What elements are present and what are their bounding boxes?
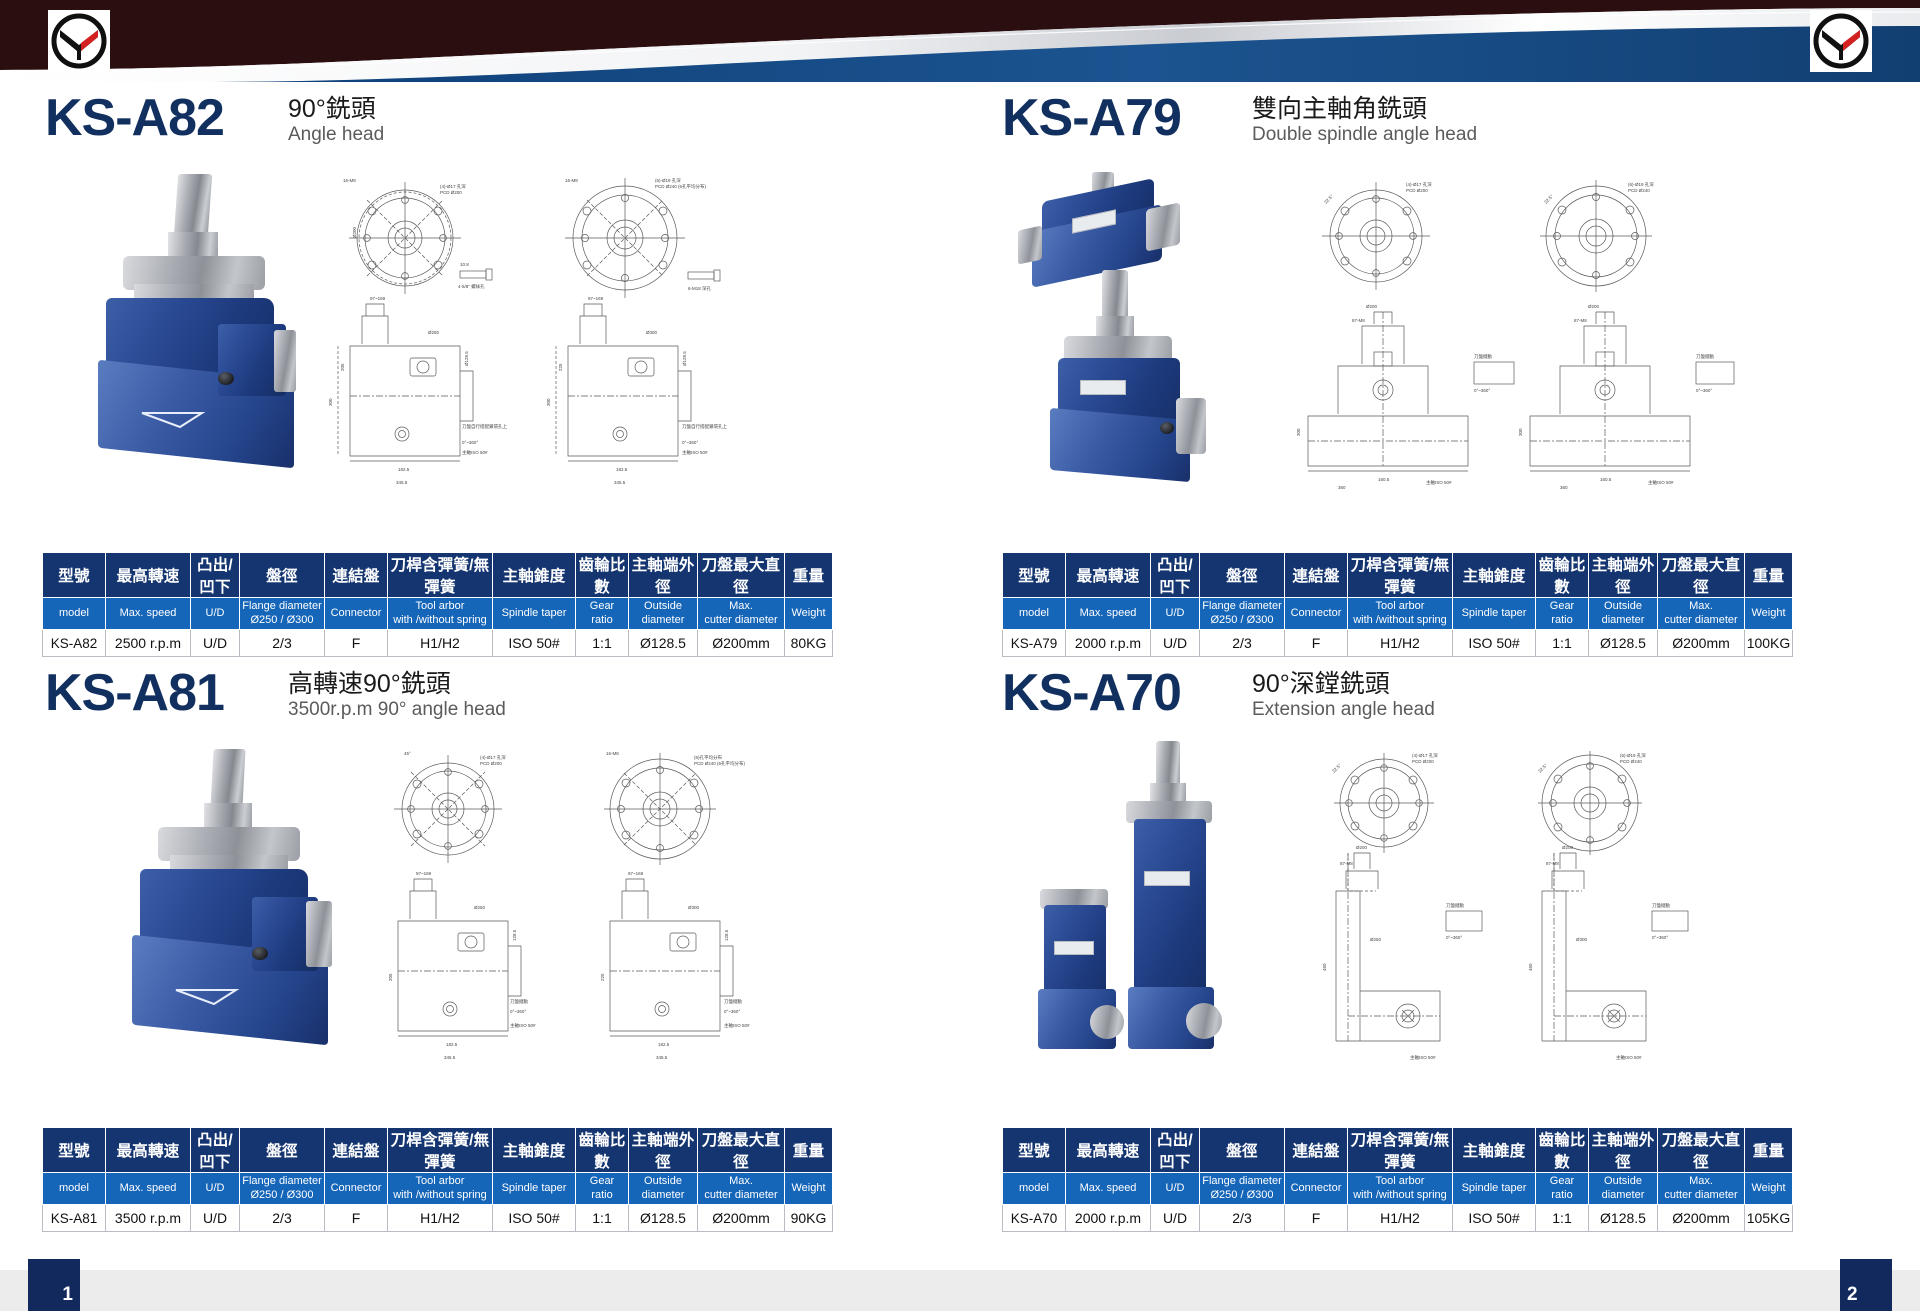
col-header-cn-outside: 主軸端外徑: [1589, 1128, 1658, 1173]
col-header-cn-gear: 齒輪比數: [1536, 1128, 1589, 1173]
col-header-en-cutter: Max.cutter diameter: [698, 1173, 785, 1205]
col-header-en-taper: Spindle taper: [493, 598, 576, 630]
spec-gear: 1:1: [576, 630, 629, 657]
spec-value-row: KS-A82 2500 r.p.m U/D 2/3 F H1/H2 ISO 50…: [43, 630, 833, 657]
spec-header-en-row: model Max. speed U/D Flange diameterØ250…: [1003, 598, 1793, 630]
svg-text:Ø200: Ø200: [1588, 304, 1600, 309]
product-panel-ks-a79: KS-A79 雙向主軸角銑頭 Double spindle angle head: [1000, 92, 1920, 652]
col-header-cn-outside: 主軸端外徑: [1589, 553, 1658, 598]
svg-text:Ø200: Ø200: [1366, 304, 1378, 309]
col-header-en-taper: Spindle taper: [493, 1173, 576, 1205]
company-logo-secondary: [1810, 10, 1872, 72]
svg-text:97~169: 97~169: [370, 296, 386, 301]
col-header-cn-toolarbor: 刀桿含彈簧/無彈簧: [1348, 1128, 1453, 1173]
svg-text:0°~360°: 0°~360°: [1652, 935, 1668, 940]
spec-model: KS-A82: [43, 630, 106, 657]
spec-connector: F: [325, 630, 388, 657]
spec-table: 型號 最高轉速 凸出/凹下 盤徑 連結盤 刀桿含彈簧/無彈簧 主軸錐度 齒輪比數…: [1002, 1127, 1793, 1232]
svg-text:460: 460: [1528, 963, 1533, 971]
product-panel-ks-a81: KS-A81 高轉速90°銑頭 3500r.p.m 90° angle head: [40, 667, 980, 1227]
col-header-cn-connector: 連結盤: [1285, 1128, 1348, 1173]
svg-text:97~169: 97~169: [416, 871, 432, 876]
col-header-en-model: model: [1003, 1173, 1066, 1205]
page-number-right-value: 2: [1847, 1284, 1858, 1306]
spec-model: KS-A70: [1003, 1205, 1066, 1232]
col-header-cn-gear: 齒輪比數: [576, 553, 629, 598]
svg-text:205: 205: [388, 973, 393, 981]
cad-drawing: (4)-Ø17 孔深 PCD Ø200 45° (6)孔平均分布 PCD Ø24…: [360, 741, 800, 1071]
product-code: KS-A70: [1002, 667, 1181, 719]
svg-text:97~169: 97~169: [628, 871, 644, 876]
spec-taper: ISO 50#: [493, 1205, 576, 1232]
col-header-en-maxspeed: Max. speed: [106, 598, 191, 630]
svg-text:345.5: 345.5: [396, 480, 408, 485]
svg-text:Ø300: Ø300: [688, 905, 700, 910]
col-header-en-weight: Weight: [785, 1173, 833, 1205]
col-header-cn-maxspeed: 最高轉速: [1066, 553, 1151, 598]
col-header-en-connector: Connector: [1285, 1173, 1348, 1205]
product-title-row: KS-A81 高轉速90°銑頭 3500r.p.m 90° angle head: [40, 667, 980, 737]
col-header-en-weight: Weight: [785, 598, 833, 630]
col-header-en-maxspeed: Max. speed: [1066, 1173, 1151, 1205]
spec-table: 型號 最高轉速 凸出/凹下 盤徑 連結盤 刀桿含彈簧/無彈簧 主軸錐度 齒輪比數…: [1002, 552, 1793, 657]
product-photo: [1010, 741, 1260, 1086]
svg-text:刀盤擺動: 刀盤擺動: [1652, 902, 1670, 909]
svg-text:PCD Ø240 (6孔平均分布): PCD Ø240 (6孔平均分布): [694, 760, 746, 767]
svg-text:345.5: 345.5: [444, 1055, 456, 1060]
svg-text:182.5: 182.5: [398, 467, 410, 472]
svg-text:主軸ISO 50#: 主軸ISO 50#: [510, 1022, 536, 1029]
svg-text:主軸ISO 50#: 主軸ISO 50#: [1410, 1054, 1436, 1061]
technical-drawing-group: (4)-Ø17 孔深 PCD Ø200 22.5° (6)-Ø19 孔深 PCD…: [1290, 741, 1740, 1081]
svg-text:300: 300: [1296, 428, 1301, 436]
spec-value-row: KS-A79 2000 r.p.m U/D 2/3 F H1/H2 ISO 50…: [1003, 630, 1793, 657]
col-header-cn-taper: 主軸錐度: [1453, 1128, 1536, 1173]
spec-gear: 1:1: [1536, 1205, 1589, 1232]
svg-text:主軸ISO 50#: 主軸ISO 50#: [1616, 1054, 1642, 1061]
col-header-en-outside: Outsidediameter: [1589, 598, 1658, 630]
svg-text:Ø200: Ø200: [1562, 845, 1574, 850]
svg-text:16-M8: 16-M8: [565, 178, 578, 183]
col-header-en-toolarbor: Tool arborwith /without spring: [388, 1173, 493, 1205]
spec-header-cn-row: 型號 最高轉速 凸出/凹下 盤徑 連結盤 刀桿含彈簧/無彈簧 主軸錐度 齒輪比數…: [43, 1128, 833, 1173]
col-header-cn-outside: 主軸端外徑: [629, 1128, 698, 1173]
svg-text:刀盤擺動: 刀盤擺動: [1696, 353, 1714, 360]
product-title-en: Angle head: [288, 124, 384, 146]
col-header-cn-model: 型號: [43, 1128, 106, 1173]
col-header-cn-taper: 主軸錐度: [493, 553, 576, 598]
logo-icon: [1810, 10, 1872, 72]
col-header-en-model: model: [1003, 598, 1066, 630]
col-header-cn-connector: 連結盤: [1285, 553, 1348, 598]
svg-text:0°~360°: 0°~360°: [1446, 935, 1462, 940]
spec-flange: 2/3: [1200, 1205, 1285, 1232]
spec-outside: Ø128.5: [1589, 630, 1658, 657]
product-code: KS-A79: [1002, 92, 1181, 144]
spec-ud: U/D: [1151, 630, 1200, 657]
col-header-en-gear: Gearratio: [576, 1173, 629, 1205]
svg-text:0°~360°: 0°~360°: [510, 1009, 526, 1014]
col-header-cn-cutter: 刀盤最大直徑: [698, 1128, 785, 1173]
col-header-en-connector: Connector: [325, 598, 388, 630]
svg-text:0°~360°: 0°~360°: [462, 440, 478, 445]
spec-gear: 1:1: [1536, 630, 1589, 657]
svg-text:Ø200: Ø200: [352, 226, 357, 238]
svg-text:4-5/8" 螺絲孔: 4-5/8" 螺絲孔: [458, 283, 485, 290]
svg-text:Ø300: Ø300: [646, 330, 658, 335]
spec-model: KS-A79: [1003, 630, 1066, 657]
col-header-en-toolarbor: Tool arborwith /without spring: [1348, 598, 1453, 630]
spec-taper: ISO 50#: [1453, 1205, 1536, 1232]
col-header-cn-model: 型號: [1003, 553, 1066, 598]
svg-text:205: 205: [340, 363, 345, 371]
spec-header-cn-row: 型號 最高轉速 凸出/凹下 盤徑 連結盤 刀桿含彈簧/無彈簧 主軸錐度 齒輪比數…: [1003, 553, 1793, 598]
spec-cutter: Ø200mm: [698, 1205, 785, 1232]
product-subtitle-group: 90°銑頭 Angle head: [288, 95, 384, 146]
col-header-en-gear: Gearratio: [1536, 1173, 1589, 1205]
spec-cutter: Ø200mm: [1658, 1205, 1745, 1232]
col-header-en-cutter: Max.cutter diameter: [1658, 598, 1745, 630]
col-header-en-ud: U/D: [1151, 598, 1200, 630]
product-visuals: (4)-Ø17 孔深 PCD Ø200 22.5° (6)-Ø19 孔深 PCD…: [1000, 741, 1920, 1121]
svg-text:87-M8: 87-M8: [1546, 861, 1559, 866]
col-header-cn-cutter: 刀盤最大直徑: [698, 553, 785, 598]
svg-text:182.5: 182.5: [446, 1042, 458, 1047]
product-code: KS-A81: [45, 667, 224, 719]
col-header-en-toolarbor: Tool arborwith /without spring: [1348, 1173, 1453, 1205]
product-title-row: KS-A70 90°深鏜銑頭 Extension angle head: [1000, 667, 1920, 737]
product-photo: [1010, 166, 1260, 506]
col-header-cn-weight: 重量: [1745, 553, 1793, 598]
product-panel-ks-a70: KS-A70 90°深鏜銑頭 Extension angle head: [1000, 667, 1920, 1227]
svg-text:PCD Ø240 (6孔平均分布): PCD Ø240 (6孔平均分布): [655, 183, 707, 190]
svg-text:87-M8: 87-M8: [1352, 318, 1365, 323]
col-header-cn-flange: 盤徑: [1200, 1128, 1285, 1173]
svg-text:22.5°: 22.5°: [1323, 194, 1334, 205]
spec-ud: U/D: [1151, 1205, 1200, 1232]
col-header-cn-cutter: 刀盤最大直徑: [1658, 553, 1745, 598]
spec-toolarbor: H1/H2: [1348, 1205, 1453, 1232]
direction-arrow-icon: [140, 410, 206, 430]
svg-text:182.5: 182.5: [616, 467, 628, 472]
spec-value-row: KS-A70 2000 r.p.m U/D 2/3 F H1/H2 ISO 50…: [1003, 1205, 1793, 1232]
spec-outside: Ø128.5: [1589, 1205, 1658, 1232]
svg-text:128.5: 128.5: [724, 929, 729, 941]
spec-ud: U/D: [191, 1205, 240, 1232]
col-header-cn-gear: 齒輪比數: [576, 1128, 629, 1173]
col-header-cn-maxspeed: 最高轉速: [1066, 1128, 1151, 1173]
col-header-cn-gear: 齒輪比數: [1536, 553, 1589, 598]
svg-text:Ø250: Ø250: [474, 905, 486, 910]
svg-text:160.5: 160.5: [1378, 477, 1390, 482]
svg-text:22.5°: 22.5°: [1543, 194, 1554, 205]
svg-text:45°: 45°: [404, 751, 411, 756]
col-header-en-weight: Weight: [1745, 598, 1793, 630]
cad-drawing: (4)-Ø17 孔深 PCD Ø200 22.5° (6)-Ø19 孔深 PCD…: [1290, 741, 1740, 1081]
col-header-en-toolarbor: Tool arborwith /without spring: [388, 598, 493, 630]
spec-gear: 1:1: [576, 1205, 629, 1232]
col-header-en-maxspeed: Max. speed: [106, 1173, 191, 1205]
product-panel-ks-a82: KS-A82 90°銑頭 Angle head: [40, 92, 980, 652]
product-title-cn: 高轉速90°銑頭: [288, 670, 506, 698]
svg-text:PCD Ø200: PCD Ø200: [1412, 759, 1434, 764]
col-header-cn-weight: 重量: [785, 553, 833, 598]
col-header-en-gear: Gearratio: [1536, 598, 1589, 630]
col-header-cn-model: 型號: [43, 553, 106, 598]
spec-header-en-row: model Max. speed U/D Flange diameterØ250…: [43, 598, 833, 630]
product-title-row: KS-A79 雙向主軸角銑頭 Double spindle angle head: [1000, 92, 1920, 162]
spec-table: 型號 最高轉速 凸出/凹下 盤徑 連結盤 刀桿含彈簧/無彈簧 主軸錐度 齒輪比數…: [42, 1127, 833, 1232]
col-header-en-flange: Flange diameterØ250 / Ø300: [240, 598, 325, 630]
svg-text:PCD Ø240: PCD Ø240: [1620, 759, 1642, 764]
svg-text:PCD Ø200: PCD Ø200: [1406, 188, 1428, 193]
product-title-cn: 90°深鏜銑頭: [1252, 670, 1435, 698]
col-header-cn-ud: 凸出/凹下: [1151, 1128, 1200, 1173]
catalog-page-body: KS-A82 90°銑頭 Angle head: [0, 82, 1920, 1262]
col-header-en-model: model: [43, 598, 106, 630]
svg-text:主軸ISO 50#: 主軸ISO 50#: [1426, 479, 1452, 486]
spec-header-cn-row: 型號 最高轉速 凸出/凹下 盤徑 連結盤 刀桿含彈簧/無彈簧 主軸錐度 齒輪比數…: [1003, 1128, 1793, 1173]
col-header-cn-flange: 盤徑: [240, 1128, 325, 1173]
col-header-cn-connector: 連結盤: [325, 553, 388, 598]
header-banner: [0, 0, 1920, 82]
spec-toolarbor: H1/H2: [388, 630, 493, 657]
svg-text:Ø128.5: Ø128.5: [464, 351, 469, 366]
product-visuals: (4)-Ø17 孔深 PCD Ø200 16-M8 Ø200 4-5/8" 螺絲…: [40, 166, 980, 546]
spec-weight: 100KG: [1745, 630, 1793, 657]
spec-flange: 2/3: [240, 630, 325, 657]
col-header-cn-toolarbor: 刀桿含彈簧/無彈簧: [388, 553, 493, 598]
svg-text:刀盤擺動: 刀盤擺動: [510, 998, 528, 1005]
svg-text:22.5°: 22.5°: [1537, 763, 1548, 774]
col-header-en-flange: Flange diameterØ250 / Ø300: [1200, 1173, 1285, 1205]
spec-taper: ISO 50#: [1453, 630, 1536, 657]
col-header-cn-maxspeed: 最高轉速: [106, 553, 191, 598]
col-header-en-ud: U/D: [191, 1173, 240, 1205]
spec-taper: ISO 50#: [493, 630, 576, 657]
svg-text:0°~360°: 0°~360°: [1474, 388, 1490, 393]
product-photo: [68, 174, 298, 504]
spec-toolarbor: H1/H2: [1348, 630, 1453, 657]
spec-cutter: Ø200mm: [698, 630, 785, 657]
col-header-cn-flange: 盤徑: [240, 553, 325, 598]
svg-text:360: 360: [1560, 485, 1568, 490]
svg-text:(4)-Ø17 孔深: (4)-Ø17 孔深: [440, 183, 466, 190]
spec-value-row: KS-A81 3500 r.p.m U/D 2/3 F H1/H2 ISO 50…: [43, 1205, 833, 1232]
spec-outside: Ø128.5: [629, 1205, 698, 1232]
svg-text:345.5: 345.5: [614, 480, 626, 485]
spec-ud: U/D: [191, 630, 240, 657]
col-header-cn-ud: 凸出/凹下: [191, 553, 240, 598]
svg-text:460: 460: [1322, 963, 1327, 971]
col-header-cn-weight: 重量: [785, 1128, 833, 1173]
logo-icon: [48, 10, 110, 72]
svg-text:16-M8: 16-M8: [343, 178, 356, 183]
spec-header-en-row: model Max. speed U/D Flange diameterØ250…: [1003, 1173, 1793, 1205]
col-header-en-model: model: [43, 1173, 106, 1205]
svg-text:(6)-Ø19 孔深: (6)-Ø19 孔深: [1628, 181, 1654, 188]
product-photo: [100, 749, 340, 1079]
svg-text:10.8: 10.8: [460, 262, 469, 267]
svg-text:160.5: 160.5: [1600, 477, 1612, 482]
svg-text:300: 300: [1518, 428, 1523, 436]
svg-text:刀盤擺動: 刀盤擺動: [1474, 353, 1492, 360]
col-header-cn-taper: 主軸錐度: [1453, 553, 1536, 598]
col-header-cn-weight: 重量: [1745, 1128, 1793, 1173]
technical-drawing-group: (4)-Ø17 孔深 PCD Ø200 22.5° (6)-Ø19 孔深 PCD…: [1278, 166, 1738, 496]
product-subtitle-group: 高轉速90°銑頭 3500r.p.m 90° angle head: [288, 670, 506, 721]
col-header-en-connector: Connector: [1285, 598, 1348, 630]
col-header-en-ud: U/D: [1151, 1173, 1200, 1205]
svg-text:0°~360°: 0°~360°: [1696, 388, 1712, 393]
footer-band: [0, 1270, 1920, 1311]
svg-text:300: 300: [328, 398, 333, 406]
svg-text:主軸ISO 50#: 主軸ISO 50#: [462, 449, 488, 456]
svg-text:6-M18 深孔: 6-M18 深孔: [688, 285, 712, 292]
cad-drawing: (4)-Ø17 孔深 PCD Ø200 16-M8 Ø200 4-5/8" 螺絲…: [310, 166, 770, 496]
spec-table: 型號 最高轉速 凸出/凹下 盤徑 連結盤 刀桿含彈簧/無彈簧 主軸錐度 齒輪比數…: [42, 552, 833, 657]
product-title-en: Extension angle head: [1252, 699, 1435, 721]
svg-text:225: 225: [558, 363, 563, 371]
svg-text:Ø300: Ø300: [1576, 937, 1588, 942]
svg-text:PCD Ø240: PCD Ø240: [1628, 188, 1650, 193]
svg-text:16-M8: 16-M8: [606, 751, 619, 756]
page-number-left: 1: [28, 1259, 80, 1311]
page-number-left-value: 1: [62, 1284, 73, 1306]
col-header-en-weight: Weight: [1745, 1173, 1793, 1205]
spec-header-cn-row: 型號 最高轉速 凸出/凹下 盤徑 連結盤 刀桿含彈簧/無彈簧 主軸錐度 齒輪比數…: [43, 553, 833, 598]
product-subtitle-group: 雙向主軸角銑頭 Double spindle angle head: [1252, 95, 1477, 146]
product-title-en: 3500r.p.m 90° angle head: [288, 699, 506, 721]
svg-text:0°~360°: 0°~360°: [724, 1009, 740, 1014]
spec-maxspeed: 3500 r.p.m: [106, 1205, 191, 1232]
svg-text:(6)-Ø19 孔深: (6)-Ø19 孔深: [1620, 752, 1646, 759]
svg-text:22.5°: 22.5°: [1331, 763, 1342, 774]
svg-text:刀盤擺動: 刀盤擺動: [1446, 902, 1464, 909]
col-header-cn-ud: 凸出/凹下: [1151, 553, 1200, 598]
spec-weight: 80KG: [785, 630, 833, 657]
svg-text:300: 300: [546, 398, 551, 406]
svg-text:刀盤擺動: 刀盤擺動: [724, 998, 742, 1005]
spec-connector: F: [1285, 630, 1348, 657]
svg-text:刀盤自行搭配鎖環孔上: 刀盤自行搭配鎖環孔上: [682, 423, 727, 430]
company-logo: [48, 10, 110, 72]
col-header-en-flange: Flange diameterØ250 / Ø300: [1200, 598, 1285, 630]
svg-text:(6)孔平均分布: (6)孔平均分布: [694, 754, 722, 761]
col-header-en-gear: Gearratio: [576, 598, 629, 630]
col-header-cn-connector: 連結盤: [325, 1128, 388, 1173]
spec-flange: 2/3: [240, 1205, 325, 1232]
page-number-right: 2: [1840, 1259, 1892, 1311]
col-header-en-taper: Spindle taper: [1453, 1173, 1536, 1205]
svg-text:Ø250: Ø250: [1370, 937, 1382, 942]
svg-text:345.5: 345.5: [656, 1055, 668, 1060]
product-code: KS-A82: [45, 92, 224, 144]
spec-toolarbor: H1/H2: [388, 1205, 493, 1232]
col-header-cn-taper: 主軸錐度: [493, 1128, 576, 1173]
col-header-en-flange: Flange diameterØ250 / Ø300: [240, 1173, 325, 1205]
svg-text:Ø128.5: Ø128.5: [682, 351, 687, 366]
product-visuals: (4)-Ø17 孔深 PCD Ø200 45° (6)孔平均分布 PCD Ø24…: [40, 741, 980, 1121]
spec-connector: F: [325, 1205, 388, 1232]
col-header-cn-ud: 凸出/凹下: [191, 1128, 240, 1173]
spec-weight: 105KG: [1745, 1205, 1793, 1232]
col-header-en-connector: Connector: [325, 1173, 388, 1205]
spec-flange: 2/3: [1200, 630, 1285, 657]
col-header-en-taper: Spindle taper: [1453, 598, 1536, 630]
svg-text:87-M8: 87-M8: [1574, 318, 1587, 323]
col-header-en-outside: Outsidediameter: [629, 598, 698, 630]
product-subtitle-group: 90°深鏜銑頭 Extension angle head: [1252, 670, 1435, 721]
col-header-en-outside: Outsidediameter: [1589, 1173, 1658, 1205]
spec-maxspeed: 2000 r.p.m: [1066, 630, 1151, 657]
spec-maxspeed: 2000 r.p.m: [1066, 1205, 1151, 1232]
svg-text:182.5: 182.5: [658, 1042, 670, 1047]
svg-text:刀盤自行搭配鎖環孔上: 刀盤自行搭配鎖環孔上: [462, 423, 507, 430]
technical-drawing-group: (4)-Ø17 孔深 PCD Ø200 45° (6)孔平均分布 PCD Ø24…: [360, 741, 800, 1071]
svg-text:Ø200: Ø200: [1356, 845, 1368, 850]
svg-text:Ø250: Ø250: [428, 330, 440, 335]
col-header-en-ud: U/D: [191, 598, 240, 630]
col-header-cn-outside: 主軸端外徑: [629, 553, 698, 598]
spec-header-en-row: model Max. speed U/D Flange diameterØ250…: [43, 1173, 833, 1205]
svg-text:225: 225: [600, 973, 605, 981]
svg-text:(6)-Ø19 孔深: (6)-Ø19 孔深: [655, 177, 681, 184]
col-header-en-cutter: Max.cutter diameter: [698, 598, 785, 630]
svg-text:0°~360°: 0°~360°: [682, 440, 698, 445]
spec-weight: 90KG: [785, 1205, 833, 1232]
col-header-en-cutter: Max.cutter diameter: [1658, 1173, 1745, 1205]
spec-connector: F: [1285, 1205, 1348, 1232]
col-header-en-outside: Outsidediameter: [629, 1173, 698, 1205]
svg-text:87-M8: 87-M8: [1340, 861, 1353, 866]
col-header-en-maxspeed: Max. speed: [1066, 598, 1151, 630]
col-header-cn-cutter: 刀盤最大直徑: [1658, 1128, 1745, 1173]
svg-text:PCD Ø200: PCD Ø200: [480, 761, 502, 766]
svg-text:主軸ISO 50#: 主軸ISO 50#: [1648, 479, 1674, 486]
spec-cutter: Ø200mm: [1658, 630, 1745, 657]
direction-arrow-icon: [174, 987, 240, 1007]
svg-text:主軸ISO 50#: 主軸ISO 50#: [724, 1022, 750, 1029]
col-header-cn-toolarbor: 刀桿含彈簧/無彈簧: [388, 1128, 493, 1173]
svg-text:主軸ISO 50#: 主軸ISO 50#: [682, 449, 708, 456]
banner-swoosh-graphic: [0, 0, 1920, 82]
spec-model: KS-A81: [43, 1205, 106, 1232]
svg-text:(4)-Ø17 孔深: (4)-Ø17 孔深: [1406, 181, 1432, 188]
svg-text:PCD Ø200: PCD Ø200: [440, 190, 462, 195]
col-header-cn-model: 型號: [1003, 1128, 1066, 1173]
technical-drawing-group: (4)-Ø17 孔深 PCD Ø200 16-M8 Ø200 4-5/8" 螺絲…: [310, 166, 770, 496]
col-header-cn-maxspeed: 最高轉速: [106, 1128, 191, 1173]
svg-text:97~169: 97~169: [588, 296, 604, 301]
spec-maxspeed: 2500 r.p.m: [106, 630, 191, 657]
product-title-en: Double spindle angle head: [1252, 124, 1477, 146]
product-title-cn: 90°銑頭: [288, 95, 384, 123]
svg-text:128.5: 128.5: [512, 929, 517, 941]
product-visuals: (4)-Ø17 孔深 PCD Ø200 22.5° (6)-Ø19 孔深 PCD…: [1000, 166, 1920, 546]
col-header-cn-toolarbor: 刀桿含彈簧/無彈簧: [1348, 553, 1453, 598]
col-header-cn-flange: 盤徑: [1200, 553, 1285, 598]
product-title-cn: 雙向主軸角銑頭: [1252, 95, 1477, 123]
svg-text:(4)-Ø17 孔深: (4)-Ø17 孔深: [480, 754, 506, 761]
svg-text:(4)-Ø17 孔深: (4)-Ø17 孔深: [1412, 752, 1438, 759]
svg-text:360: 360: [1338, 485, 1346, 490]
product-title-row: KS-A82 90°銑頭 Angle head: [40, 92, 980, 162]
cad-drawing: (4)-Ø17 孔深 PCD Ø200 22.5° (6)-Ø19 孔深 PCD…: [1278, 166, 1738, 496]
spec-outside: Ø128.5: [629, 630, 698, 657]
